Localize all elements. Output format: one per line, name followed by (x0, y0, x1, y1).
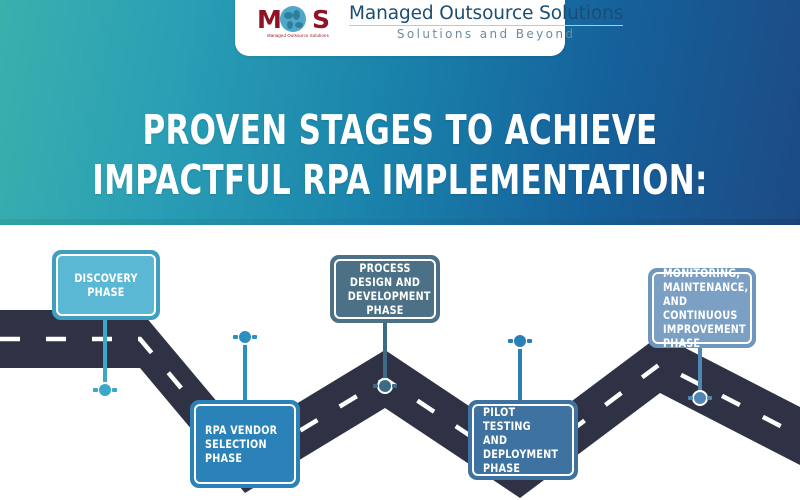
stage-label-4: Pilot Testing and Deployment Phase (483, 405, 557, 475)
stage-stem-4 (518, 340, 522, 406)
stage-dot-4 (512, 333, 528, 349)
stage-sign-2[interactable]: RPA Vendor Selection Phase (190, 400, 300, 488)
stage-dot-1 (97, 382, 113, 398)
stage-stem-2 (243, 336, 247, 406)
header-banner: M S Managed Outsource Solutions Managed … (0, 0, 800, 225)
logo-letter-m: M (257, 5, 281, 34)
company-tagline: Solutions and Beyond (349, 27, 623, 41)
stage-sign-2-body: RPA Vendor Selection Phase (194, 404, 296, 484)
page-title-line-1: Proven Stages to Achieve (64, 105, 736, 155)
stage-sign-1-body: Discovery Phase (56, 254, 156, 316)
page-title-line-2: Impactful RPA Implementation: (64, 155, 736, 205)
logo-micro-tagline: Managed Outsource Solutions (257, 33, 339, 38)
stage-label-1: Discovery Phase (70, 271, 143, 299)
logo-wordmark: Managed Outsource Solutions Solutions an… (349, 3, 623, 41)
stage-sign-1[interactable]: Discovery Phase (52, 250, 160, 320)
stage-label-5: Monitoring, Maintenance, and Continuous … (663, 266, 736, 350)
stage-sign-5-body: Monitoring, Maintenance, and Continuous … (652, 272, 752, 344)
stage-sign-3-body: Process Design and Development Phase (334, 259, 436, 319)
infographic-canvas: M S Managed Outsource Solutions Managed … (0, 0, 800, 500)
stage-stem-1 (103, 318, 107, 390)
company-logo-card: M S Managed Outsource Solutions Managed … (235, 0, 565, 56)
stage-stem-3 (383, 322, 387, 385)
stage-dot-5 (692, 390, 708, 406)
stage-label-2: RPA Vendor Selection Phase (205, 423, 279, 465)
logo-divider (349, 25, 623, 26)
logo-mark: M S Managed Outsource Solutions (257, 3, 339, 43)
stage-dot-2 (237, 329, 253, 345)
company-name: Managed Outsource Solutions (349, 3, 623, 24)
stage-sign-5[interactable]: Monitoring, Maintenance, and Continuous … (648, 268, 756, 348)
stage-sign-4[interactable]: Pilot Testing and Deployment Phase (468, 400, 578, 480)
page-title: Proven Stages to Achieve Impactful RPA I… (64, 105, 736, 205)
logo-letter-s: S (312, 5, 329, 34)
stage-dot-3 (377, 378, 393, 394)
stage-sign-3[interactable]: Process Design and Development Phase (330, 255, 440, 323)
stage-sign-4-body: Pilot Testing and Deployment Phase (472, 404, 574, 476)
stage-label-3: Process Design and Development Phase (348, 261, 422, 317)
globe-icon (280, 6, 306, 32)
